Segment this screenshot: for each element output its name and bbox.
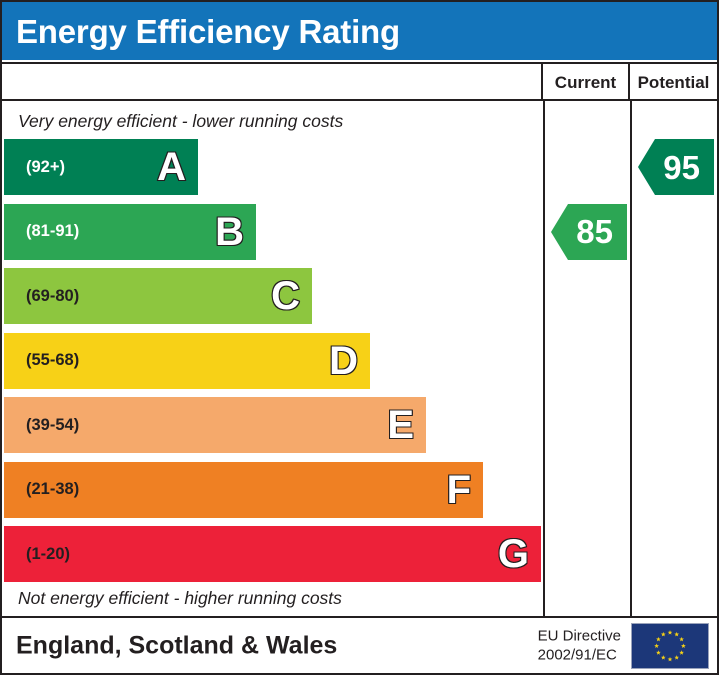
eu-flag-icon (631, 623, 709, 669)
band-bar-b: (81-91)B (4, 204, 256, 260)
current-rating-value: 85 (576, 215, 627, 248)
band-range-f: (21-38) (26, 481, 79, 498)
band-bar-c: (69-80)C (4, 268, 312, 324)
chart-body: Very energy efficient - lower running co… (2, 101, 717, 618)
note-very-efficient: Very energy efficient - lower running co… (18, 111, 343, 132)
band-bar-d: (55-68)D (4, 333, 370, 389)
band-letter-a: A (157, 147, 186, 187)
band-bar-g: (1-20)G (4, 526, 541, 582)
note-not-efficient: Not energy efficient - higher running co… (18, 588, 342, 609)
band-letter-d: D (329, 341, 358, 381)
band-letter-g: G (498, 534, 529, 574)
band-bar-list: (92+)A(81-91)B(69-80)C(55-68)D(39-54)E(2… (2, 139, 543, 591)
column-header-blank (2, 64, 543, 101)
footer-directive-line2: 2002/91/EC (538, 646, 621, 666)
current-rating-marker: 85 (551, 204, 627, 260)
footer-eu-directive: EU Directive 2002/91/EC (538, 626, 621, 665)
band-letter-e: E (387, 405, 414, 445)
column-divider-current (543, 101, 545, 616)
column-header-current: Current (543, 64, 630, 101)
potential-rating-marker: 95 (638, 139, 714, 195)
column-header-potential: Potential (630, 64, 717, 101)
band-letter-f: F (447, 470, 471, 510)
band-range-d: (55-68) (26, 352, 79, 369)
energy-efficiency-rating-chart: Energy Efficiency Rating Current Potenti… (0, 0, 719, 675)
band-range-g: (1-20) (26, 546, 70, 563)
band-letter-c: C (271, 276, 300, 316)
band-range-e: (39-54) (26, 417, 79, 434)
column-divider-potential (630, 101, 632, 616)
potential-rating-value: 95 (663, 151, 714, 184)
chart-footer: England, Scotland & Wales EU Directive 2… (2, 618, 717, 673)
band-range-c: (69-80) (26, 288, 79, 305)
chart-title-bar: Energy Efficiency Rating (2, 2, 717, 60)
column-header-row: Current Potential (2, 62, 717, 101)
band-range-a: (92+) (26, 159, 65, 176)
footer-country-label: England, Scotland & Wales (16, 631, 337, 660)
footer-directive-line1: EU Directive (538, 626, 621, 646)
band-range-b: (81-91) (26, 223, 79, 240)
band-bar-a: (92+)A (4, 139, 198, 195)
page-title: Energy Efficiency Rating (2, 15, 400, 48)
band-bar-f: (21-38)F (4, 462, 483, 518)
band-letter-b: B (215, 212, 244, 252)
band-bar-e: (39-54)E (4, 397, 426, 453)
